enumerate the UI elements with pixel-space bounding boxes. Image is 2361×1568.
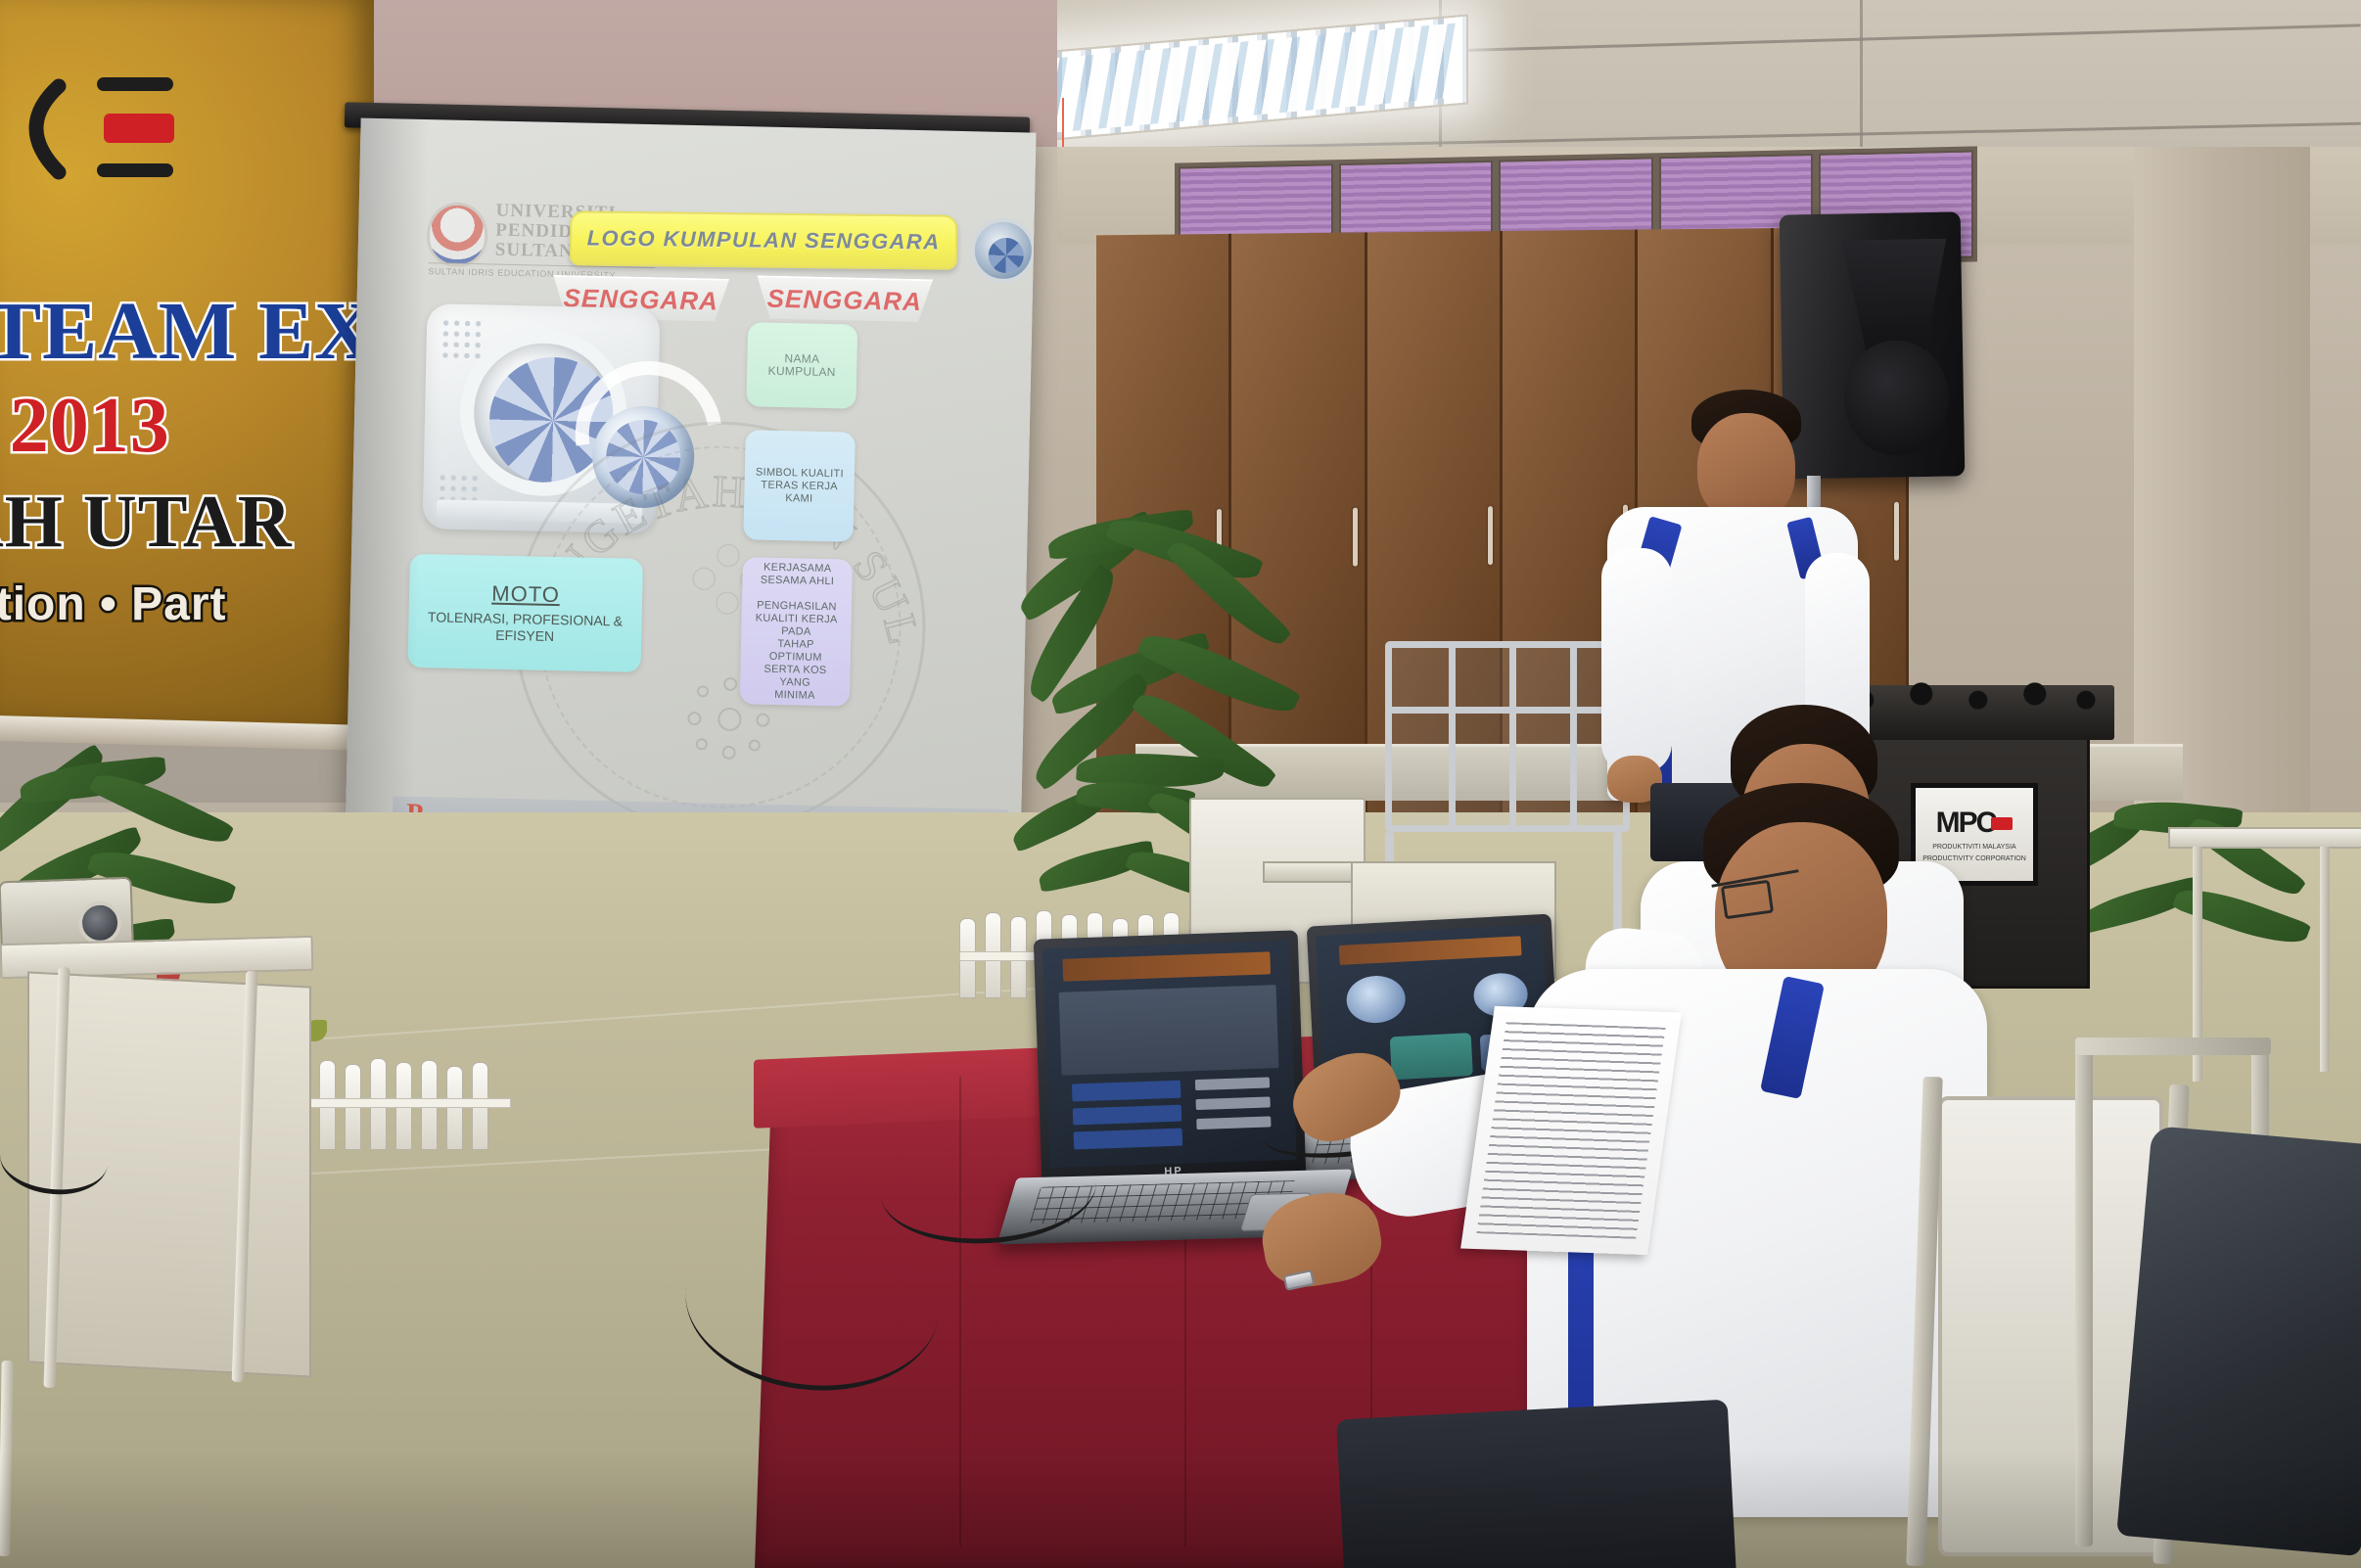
slide-box-moto: MOTO TOLENRASI, PROFESIONAL & EFISYEN xyxy=(407,554,642,672)
slide-box-simbol-kualiti: SIMBOL KUALITI TERAS KERJA KAMI xyxy=(743,430,855,541)
side-table xyxy=(2168,827,2361,849)
slide-tab-senggara-2: SENGGARA xyxy=(756,275,933,322)
printed-script-page[interactable] xyxy=(1460,1006,1682,1255)
slide-header-banner: LOGO KUMPULAN SENGGARA xyxy=(570,210,958,269)
vent-dots xyxy=(440,317,484,361)
banner-line-2: C 2013 xyxy=(0,382,170,471)
projected-slide: UNIVERSITI PENDIDIKAN SULTAN IDRIS SULTA… xyxy=(344,118,1036,906)
banner-line-4: ovation • Part xyxy=(0,577,227,631)
upsi-crest-icon xyxy=(426,202,487,267)
moto-title: MOTO xyxy=(491,581,560,609)
recessed-louvre-light xyxy=(1008,14,1468,144)
event-backdrop-banner: N TEAM EXCE C 2013 YAH UTAR ovation • Pa… xyxy=(0,0,374,739)
tab-label: SENGGARA xyxy=(766,283,922,316)
presentation-room-scene: N TEAM EXCE C 2013 YAH UTAR ovation • Pa… xyxy=(0,0,2361,1568)
banner-line-1: N TEAM EXCE xyxy=(0,284,374,379)
box-text: KERJASAMA SESAMA AHLI PENGHASILAN KUALIT… xyxy=(750,561,843,703)
slide-box-kerjasama: KERJASAMA SESAMA AHLI PENGHASILAN KUALIT… xyxy=(740,557,853,706)
laptop-lid: HP xyxy=(1034,930,1307,1183)
laptop-screen[interactable] xyxy=(1042,941,1297,1169)
moto-body: TOLENRASI, PROFESIONAL & EFISYEN xyxy=(418,609,632,647)
box-text: SIMBOL KUALITI TERAS KERJA KAMI xyxy=(754,466,845,506)
washer-panel xyxy=(437,499,642,524)
foreground-vignette xyxy=(0,1451,2361,1568)
gear-icon xyxy=(605,419,681,495)
mpc-logo-icon xyxy=(0,59,196,196)
projection-screen: UNIVERSITI PENDIDIKAN SULTAN IDRIS SULTA… xyxy=(344,118,1036,906)
slide-box-nama-kumpulan: NAMA KUMPULAN xyxy=(746,322,857,408)
slide-header-text: LOGO KUMPULAN SENGGARA xyxy=(587,226,941,255)
box-text: NAMA KUMPULAN xyxy=(757,351,848,379)
senggara-group-logo-icon xyxy=(970,217,1036,283)
banner-line-3: YAH UTAR xyxy=(0,480,293,565)
side-table-leg xyxy=(2320,847,2330,1072)
eyeglasses xyxy=(1721,880,1774,920)
